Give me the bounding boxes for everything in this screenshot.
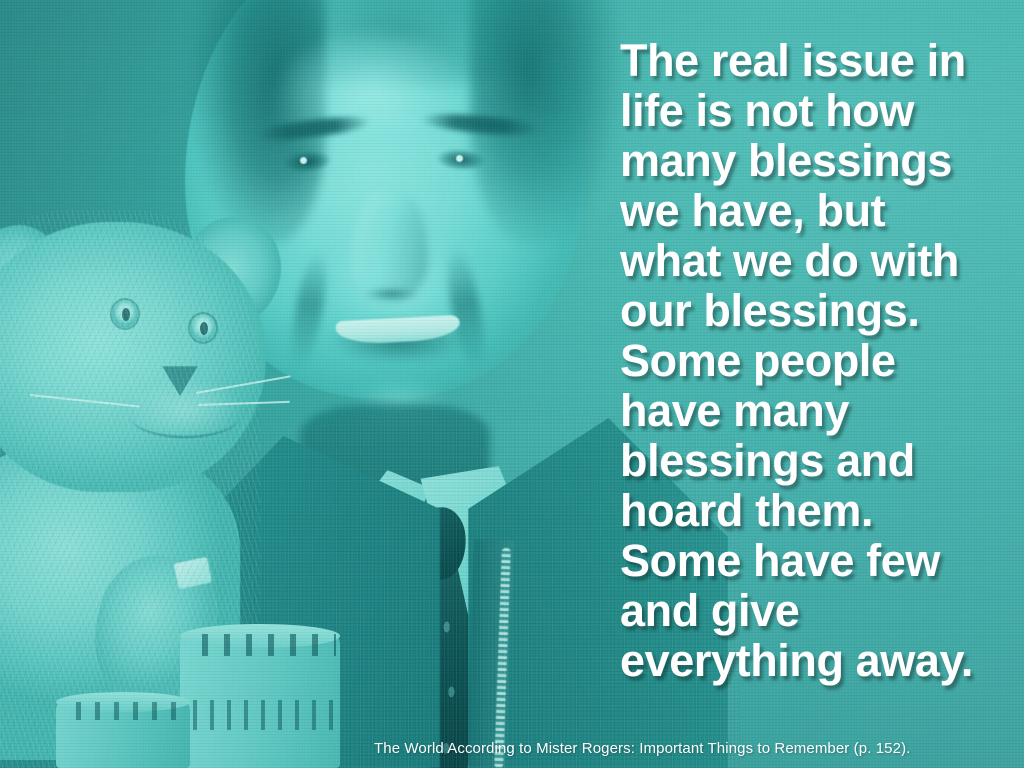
quote-text: The real issue in life is not how many b… <box>620 36 1020 686</box>
attribution-text: The World According to Mister Rogers: Im… <box>374 740 910 757</box>
quote-slide: The real issue in life is not how many b… <box>0 0 1024 768</box>
